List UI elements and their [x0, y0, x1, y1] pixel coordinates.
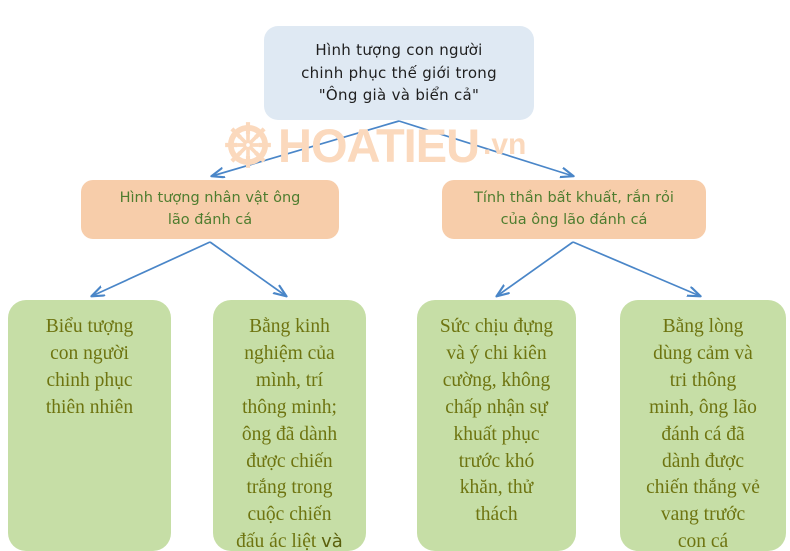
- node-branch-left: Hình tượng nhân vật ông lão đánh cá: [81, 180, 339, 239]
- node-root-text: Hình tượng con người chinh phục thế giới…: [301, 39, 497, 107]
- node-leaf-4-line: tri thông: [646, 368, 760, 395]
- node-leaf-4-text: Bằng lòng dùng cảm và tri thông minh, ôn…: [646, 314, 760, 551]
- node-leaf-3: Sức chịu đựng và ý chi kiên cường, không…: [417, 300, 576, 551]
- node-root-line: Hình tượng con người: [301, 39, 497, 62]
- node-leaf-1: Biểu tượng con người chinh phục thiên nh…: [8, 300, 171, 551]
- watermark-tld: .vn: [483, 128, 526, 162]
- node-leaf-4-line: dành được: [646, 449, 760, 476]
- connector-branch-left-to-leaf-1: [92, 242, 210, 296]
- node-leaf-1-line: Biểu tượng: [46, 314, 134, 341]
- node-leaf-4-line: vang trước: [646, 502, 760, 529]
- node-leaf-4-line: con cá: [646, 529, 760, 551]
- node-leaf-2-line: nghiệm của: [236, 341, 343, 368]
- node-leaf-3-line: khuất phục: [440, 422, 553, 449]
- node-leaf-2-line: trắng trong: [236, 475, 343, 502]
- node-leaf-4-line: minh, ông lão: [646, 395, 760, 422]
- node-branch-right-text: Tính thần bất khuất, rắn rỏi của ông lão…: [474, 188, 674, 230]
- node-leaf-2-line: đấu ác liệt: [236, 531, 316, 551]
- node-leaf-2: Bằng kinh nghiệm của mình, trí thông min…: [213, 300, 366, 551]
- connector-branch-right-to-leaf-3: [497, 242, 573, 296]
- node-branch-right-line: Tính thần bất khuất, rắn rỏi: [474, 188, 674, 209]
- node-branch-right: Tính thần bất khuất, rắn rỏi của ông lão…: [442, 180, 706, 239]
- node-leaf-2-line: được chiến: [236, 449, 343, 476]
- node-leaf-2-text: Bằng kinh nghiệm của mình, trí thông min…: [236, 314, 343, 551]
- node-leaf-3-line: Sức chịu đựng: [440, 314, 553, 341]
- node-leaf-4-line: chiến thắng vẻ: [646, 475, 760, 502]
- node-leaf-3-line: chấp nhận sự: [440, 395, 553, 422]
- watermark-brand: HOATIEU: [278, 122, 479, 169]
- node-leaf-2-line: cuộc chiến: [236, 502, 343, 529]
- node-leaf-4-line: Bằng lòng: [646, 314, 760, 341]
- node-leaf-4: Bằng lòng dùng cảm và tri thông minh, ôn…: [620, 300, 786, 551]
- node-leaf-3-line: trước khó: [440, 449, 553, 476]
- node-branch-left-text: Hình tượng nhân vật ông lão đánh cá: [120, 188, 301, 230]
- connector-branch-right-to-leaf-4: [573, 242, 700, 296]
- node-leaf-1-line: thiên nhiên: [46, 395, 134, 422]
- node-leaf-3-line: thách: [440, 502, 553, 529]
- connector-branch-left-to-leaf-2: [210, 242, 286, 296]
- node-leaf-4-line: đánh cá đã: [646, 422, 760, 449]
- node-leaf-1-text: Biểu tượng con người chinh phục thiên nh…: [46, 314, 134, 422]
- node-branch-left-line: lão đánh cá: [120, 210, 301, 231]
- node-leaf-3-line: cường, không: [440, 368, 553, 395]
- node-leaf-3-text: Sức chịu đựng và ý chi kiên cường, không…: [440, 314, 553, 529]
- node-leaf-2-line: thông minh;: [236, 395, 343, 422]
- diagram-canvas: HOATIEU.vn Hình tượng con người chinh ph…: [0, 0, 790, 551]
- watermark: HOATIEU.vn: [222, 114, 562, 176]
- node-leaf-1-line: con người: [46, 341, 134, 368]
- node-leaf-2-line: mình, trí: [236, 368, 343, 395]
- node-branch-left-line: Hình tượng nhân vật ông: [120, 188, 301, 209]
- node-leaf-4-line: dùng cảm và: [646, 341, 760, 368]
- node-leaf-1-line: chinh phục: [46, 368, 134, 395]
- ship-wheel-icon: [222, 119, 274, 171]
- node-leaf-2-tail: và: [321, 531, 343, 551]
- node-leaf-3-line: và ý chi kiên: [440, 341, 553, 368]
- node-leaf-3-line: khăn, thử: [440, 475, 553, 502]
- node-leaf-2-line: ông đã dành: [236, 422, 343, 449]
- node-root: Hình tượng con người chinh phục thế giới…: [264, 26, 534, 120]
- node-root-line: "Ông già và biển cả": [301, 84, 497, 107]
- node-branch-right-line: của ông lão đánh cá: [474, 210, 674, 231]
- node-leaf-2-last-line: đấu ác liệt và: [236, 529, 343, 551]
- node-leaf-2-line: Bằng kinh: [236, 314, 343, 341]
- node-root-line: chinh phục thế giới trong: [301, 62, 497, 85]
